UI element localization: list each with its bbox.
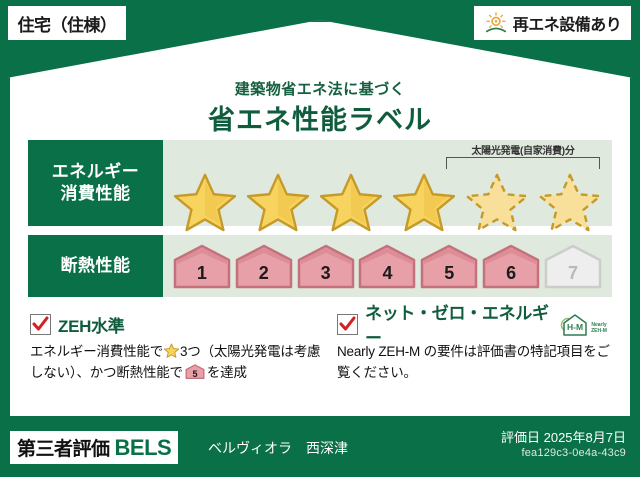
footer-bar: 第三者評価 BELS ベルヴィオラ 西深津 評価日 2025年8月7日 fea1… [0,421,640,477]
star-icon-solar [466,172,528,232]
grade-rating: 1 2 3 4 5 [163,235,612,297]
bels-jp-text: 第三者評価 [17,434,110,461]
grade-number: 7 [543,263,603,284]
grade-badge: 3 [296,243,356,289]
checkbox-checked-icon [337,314,358,335]
grade-number: 1 [172,263,232,284]
label-panel-content: 建築物省エネ法に基づく 省エネ性能ラベル エネルギー 消費性能 [8,20,632,418]
grade-badge: 1 [172,243,232,289]
grade-number: 3 [296,263,356,284]
star-icon-solar [539,172,601,232]
insulation-label-text: 断熱性能 [61,255,131,277]
sun-icon [484,12,508,34]
property-name: ベルヴィオラ 西深津 [208,438,348,458]
zeh-heading-row: ZEH水準 [30,312,321,336]
netzero-heading-row: ネット・ゼロ・エネルギー H-M Nearly ZEH-M [337,312,612,336]
grade-number: 6 [481,263,541,284]
grade-number: 2 [234,263,294,284]
house-type-tag: 住宅（住棟） [8,6,126,40]
zeh-column: ZEH水準 エネルギー消費性能で3つ（太陽光発電は考慮しない）、かつ断熱性能で5… [30,312,321,408]
svg-text:Nearly: Nearly [591,322,607,328]
svg-text:ZEH-M: ZEH-M [591,328,607,334]
insulation-performance-row: 断熱性能 1 2 3 [28,235,612,297]
energy-performance-row: エネルギー 消費性能 [28,140,612,226]
star-icon [174,172,236,232]
star-icon [247,172,309,232]
insulation-grades-area: 1 2 3 4 5 [163,235,612,297]
insulation-performance-label-box: 断熱性能 [28,235,163,297]
grade-badge: 6 [481,243,541,289]
netzero-description: Nearly ZEH-M の要件は評価書の特記項目をご覧ください。 [337,342,612,384]
checkbox-checked-icon [30,314,51,335]
star-rating [163,140,612,226]
grade-number: 5 [419,263,479,284]
svg-text:H-M: H-M [567,322,583,332]
house-type-text: 住宅（住棟） [18,11,117,36]
evaluation-id: fea129c3-0e4a-43c9 [521,447,626,459]
evaluation-date: 評価日 2025年8月7日 [501,427,626,446]
zeh-desc-part1: エネルギー消費性能で [30,344,163,359]
zeh-desc-part3: を達成 [207,365,247,380]
netzero-column: ネット・ゼロ・エネルギー H-M Nearly ZEH-M Nearly ZEH… [321,312,612,408]
energy-performance-label: 建築物省エネ法に基づく 省エネ性能ラベル エネルギー 消費性能 [0,0,640,477]
label-title: 省エネ性能ラベル [8,98,632,137]
energy-stars-area: 太陽光発電(自家消費)分 [163,140,612,226]
grade-badge: 5 [419,243,479,289]
solar-equipment-tag: 再エネ設備あり [474,6,631,40]
star-icon-inline [164,343,179,358]
bels-badge: 第三者評価 BELS [10,431,178,464]
criteria-columns: ZEH水準 エネルギー消費性能で3つ（太陽光発電は考慮しない）、かつ断熱性能で5… [30,312,612,408]
grade-badge-inactive: 7 [543,243,603,289]
energy-label-line1: エネルギー [52,161,140,183]
grade-badge-inline: 5 [185,364,205,379]
grade-number: 4 [357,263,417,284]
energy-label-line2: 消費性能 [61,183,131,205]
energy-performance-label-box: エネルギー 消費性能 [28,140,163,226]
zeh-heading: ZEH水準 [58,312,125,337]
grade-badge: 2 [234,243,294,289]
zeh-description: エネルギー消費性能で3つ（太陽光発電は考慮しない）、かつ断熱性能で5を達成 [30,342,321,384]
label-subtitle: 建築物省エネ法に基づく [8,78,632,99]
grade-number-inline: 5 [185,370,205,379]
grade-badge: 4 [357,243,417,289]
solar-equipment-text: 再エネ設備あり [513,11,622,35]
zeh-m-logo-icon: H-M Nearly ZEH-M [560,311,612,337]
bels-en-text: BELS [115,435,172,461]
star-icon [320,172,382,232]
star-icon [393,172,455,232]
